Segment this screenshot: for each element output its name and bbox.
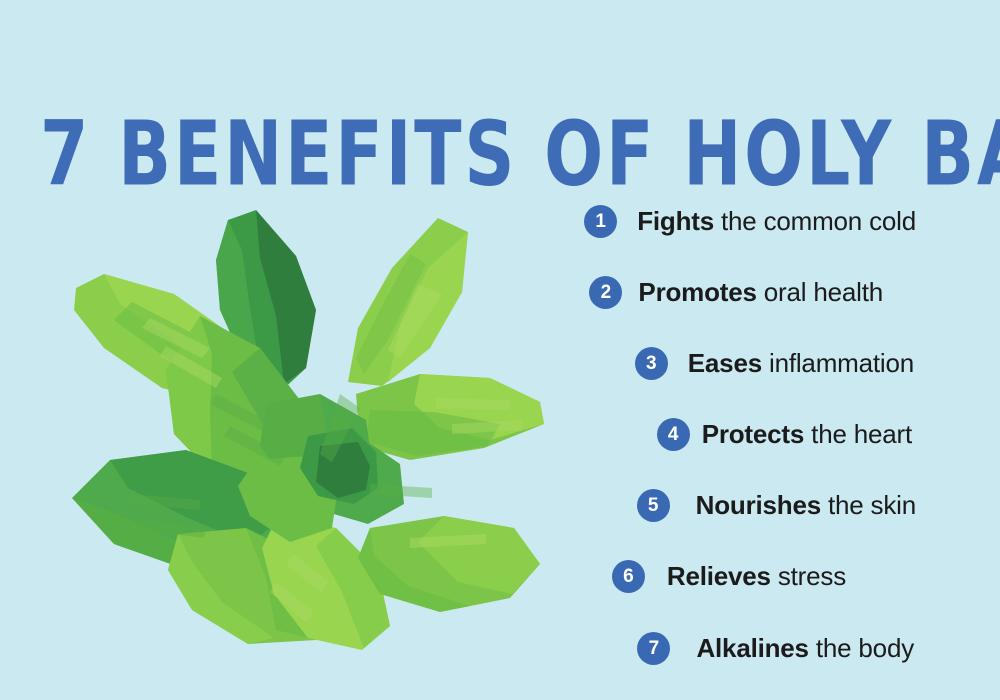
benefit-lead-5: Nourishes	[696, 490, 821, 520]
benefit-text-7: Alkalines the body	[696, 631, 914, 665]
benefit-text-3: Eases inflammation	[688, 346, 914, 380]
basil-leaves	[72, 210, 544, 650]
benefit-row-5: 5 Nourishes the skin	[637, 485, 916, 525]
benefit-text-5: Nourishes the skin	[696, 488, 916, 522]
benefit-lead-7: Alkalines	[696, 633, 808, 663]
benefit-lead-3: Eases	[688, 348, 762, 378]
benefit-lead-4: Protects	[702, 419, 804, 449]
infographic-poster: 7 BENEFITS OF HOLY BASIL	[0, 0, 1000, 700]
benefit-lead-6: Relieves	[667, 561, 771, 591]
benefit-rest-7: the body	[809, 633, 914, 663]
benefit-row-1: 1 Fights the common cold	[584, 201, 916, 241]
benefit-text-1: Fights the common cold	[637, 204, 916, 238]
benefits-list: 1 Fights the common cold 2 Promotes oral…	[500, 190, 940, 670]
benefit-rest-5: the skin	[821, 490, 916, 520]
benefit-number-badge-7: 7	[637, 632, 670, 665]
benefit-number-badge-2: 2	[589, 276, 622, 309]
benefit-number-badge-4: 4	[657, 418, 690, 451]
benefit-lead-2: Promotes	[638, 277, 756, 307]
benefit-rest-1: the common cold	[714, 206, 916, 236]
benefit-row-2: 2 Promotes oral health	[589, 272, 883, 312]
benefit-rest-4: the heart	[804, 419, 912, 449]
benefit-rest-2: oral health	[757, 277, 883, 307]
benefit-text-4: Protects the heart	[702, 417, 912, 451]
benefit-row-3: 3 Eases inflammation	[635, 343, 914, 383]
benefit-number-badge-1: 1	[584, 205, 617, 238]
benefit-row-6: 6 Relieves stress	[612, 556, 846, 596]
benefit-rest-3: inflammation	[762, 348, 914, 378]
holy-basil-plant-illustration	[70, 198, 560, 664]
benefit-number-badge-5: 5	[637, 489, 670, 522]
benefit-text-6: Relieves stress	[667, 559, 846, 593]
benefit-row-7: 7 Alkalines the body	[637, 628, 914, 668]
page-title: 7 BENEFITS OF HOLY BASIL	[40, 106, 960, 204]
benefit-text-2: Promotes oral health	[638, 275, 883, 309]
benefit-number-badge-3: 3	[635, 347, 668, 380]
benefit-lead-1: Fights	[637, 206, 714, 236]
benefit-number-badge-6: 6	[612, 560, 645, 593]
benefit-row-4: 4 Protects the heart	[657, 414, 912, 454]
benefit-rest-6: stress	[771, 561, 846, 591]
